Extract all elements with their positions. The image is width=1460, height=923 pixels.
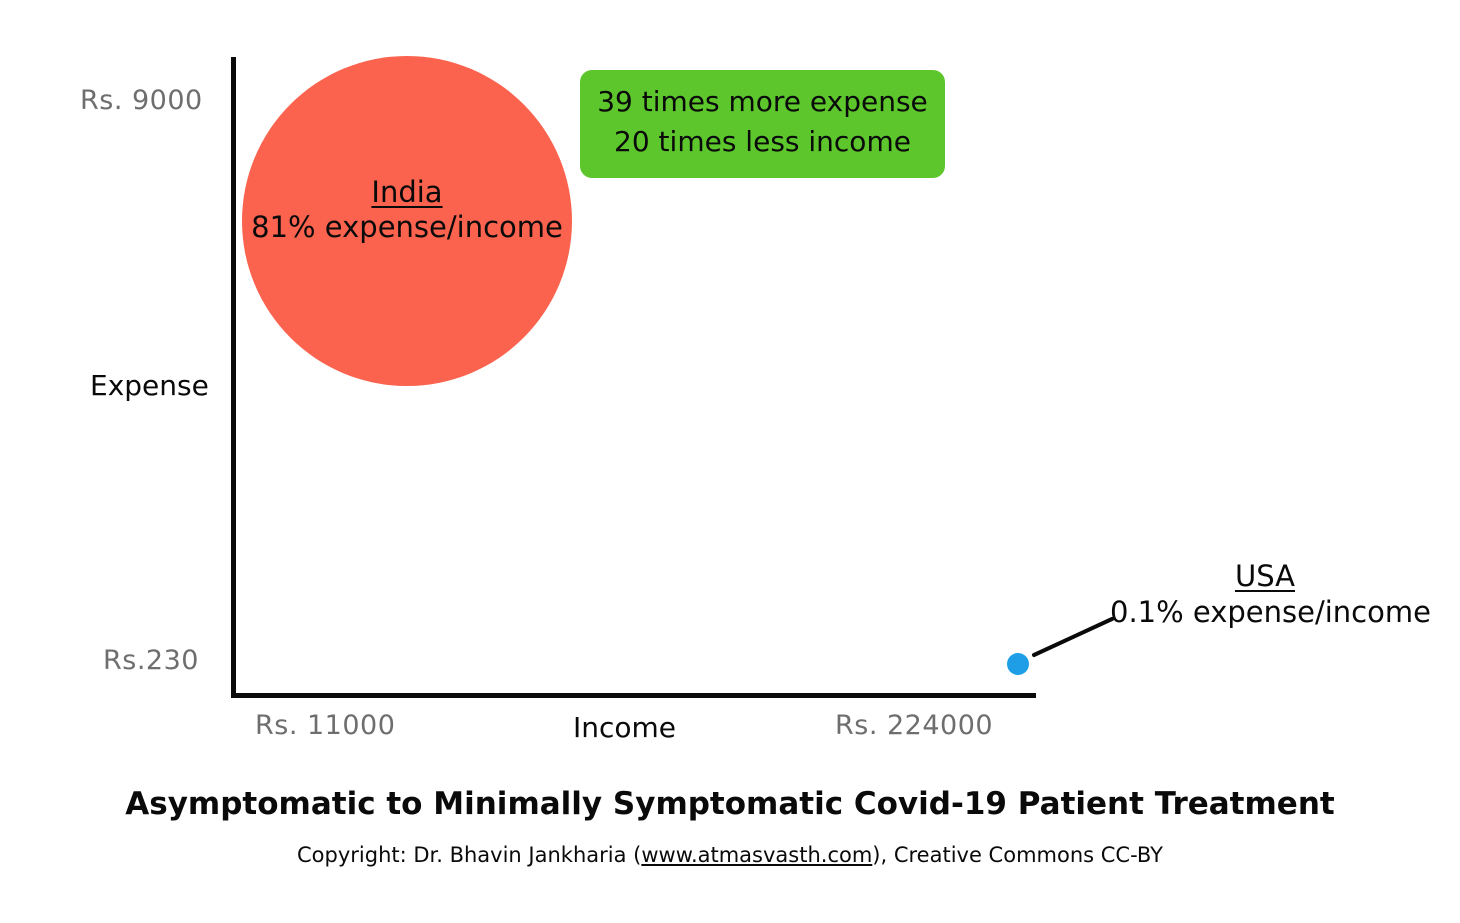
bubble-label-india: India <box>371 176 442 209</box>
chart-canvas: Rs. 9000 Rs.230 Expense Rs. 11000 Rs. 22… <box>0 0 1460 923</box>
point-sublabel-usa: 0.1% expense/income <box>1110 594 1420 630</box>
data-bubble-india[interactable]: India 81% expense/income <box>242 56 572 386</box>
credit-suffix: ), Creative Commons CC-BY <box>872 843 1163 867</box>
data-point-usa[interactable] <box>1007 653 1029 675</box>
y-axis-title: Expense <box>90 369 209 402</box>
comparison-callout-box: 39 times more expense 20 times less inco… <box>580 70 945 178</box>
x-axis-title: Income <box>573 711 676 744</box>
point-label-usa: USA <box>1235 559 1295 593</box>
y-axis-tick-top: Rs. 9000 <box>80 85 203 116</box>
x-axis-tick-left: Rs. 11000 <box>255 710 395 741</box>
data-label-usa: USA 0.1% expense/income <box>1110 558 1420 631</box>
y-axis-line <box>231 57 236 698</box>
y-axis-tick-bottom: Rs.230 <box>103 645 199 676</box>
x-axis-tick-right: Rs. 224000 <box>835 710 993 741</box>
chart-title: Asymptomatic to Minimally Symptomatic Co… <box>0 786 1460 822</box>
callout-line-1: 39 times more expense <box>594 82 931 122</box>
x-axis-line <box>231 693 1036 698</box>
credit-link[interactable]: www.atmasvasth.com <box>641 843 872 867</box>
callout-line-2: 20 times less income <box>594 122 931 162</box>
credit-prefix: Copyright: Dr. Bhavin Jankharia ( <box>297 843 641 867</box>
copyright-credit: Copyright: Dr. Bhavin Jankharia (www.atm… <box>0 843 1460 867</box>
bubble-sublabel-india: 81% expense/income <box>251 209 563 247</box>
